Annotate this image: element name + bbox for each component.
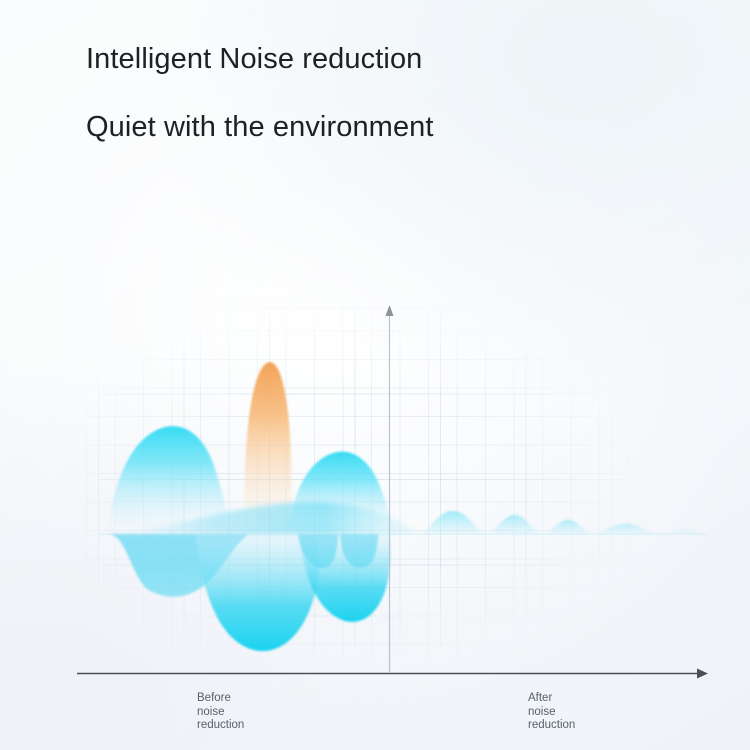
waveform-chart: [0, 0, 750, 750]
caption-before-noise-reduction: Before noise reduction: [197, 692, 244, 733]
ripple-3: [542, 520, 592, 534]
after-noise-waveform: [420, 511, 706, 534]
ripple-2: [486, 515, 542, 534]
amplitude-axis: [386, 305, 394, 672]
before-noise-waveform: [104, 362, 418, 651]
ripple-5: [658, 529, 706, 534]
ripple-4: [592, 524, 658, 534]
ripple-1: [420, 511, 486, 534]
noise-reduction-infographic: Intelligent Noise reduction Quiet with t…: [0, 0, 750, 750]
caption-after-noise-reduction: After noise reduction: [528, 692, 575, 733]
time-axis: [77, 669, 708, 679]
wave-lower-lobe-deep: [196, 534, 319, 651]
